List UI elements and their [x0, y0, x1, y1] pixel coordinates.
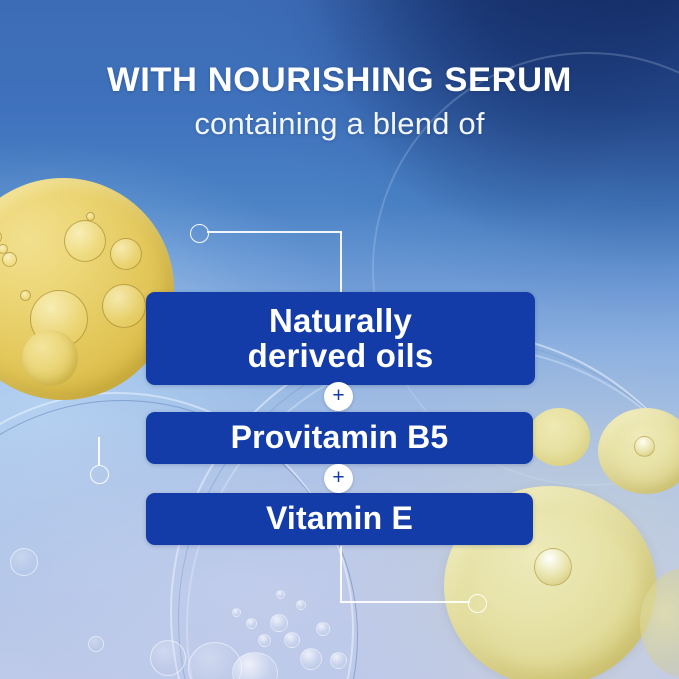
gel-pool-medium-dome	[634, 436, 655, 457]
surface-bubble	[10, 548, 38, 576]
oil-inner-bubble	[2, 252, 17, 267]
foam-bubble	[232, 608, 241, 617]
foam-bubble	[232, 652, 278, 679]
ring-marker-icon-gel-pool	[468, 594, 487, 613]
oil-droplet-small	[22, 330, 78, 386]
connector-line-oils-vertical	[340, 231, 342, 293]
connector-line-b5-vertical	[98, 437, 100, 466]
surface-bubble	[88, 636, 104, 652]
foam-bubble	[276, 590, 285, 599]
foam-bubble	[296, 600, 306, 610]
connector-line-vitamine-horizontal	[340, 601, 470, 603]
foam-bubble	[246, 618, 257, 629]
oil-inner-bubble	[0, 244, 8, 254]
gel-pool-lobe	[528, 408, 590, 466]
plus-icon-separator-1: +	[324, 382, 353, 411]
ingredient-label-oils: Naturally derived oils	[248, 304, 434, 373]
ring-marker-icon-oil-droplet	[190, 224, 209, 243]
ingredient-label-oils-line2: derived oils	[248, 339, 434, 373]
oil-inner-bubble	[20, 290, 31, 301]
oil-inner-bubble	[102, 284, 146, 328]
ingredient-label-vitamin-e: Vitamin E	[266, 502, 413, 535]
page-subtitle: containing a blend of	[0, 107, 679, 141]
ingredient-bar-naturally-derived-oils: Naturally derived oils	[146, 292, 535, 385]
foam-bubble	[258, 634, 271, 647]
surface-bubble	[150, 640, 186, 676]
plus-icon-glyph-1: +	[332, 385, 344, 406]
oil-inner-bubble	[64, 220, 106, 262]
ingredient-bar-provitamin-b5: Provitamin B5	[146, 412, 533, 464]
gel-pool-medium	[598, 408, 679, 494]
product-infographic: WITH NOURISHING SERUM containing a blend…	[0, 0, 679, 679]
oil-inner-bubble	[86, 212, 95, 221]
foam-bubble	[300, 648, 322, 670]
foam-bubble	[316, 622, 330, 636]
ingredient-label-provitamin-b5: Provitamin B5	[231, 421, 449, 454]
plus-icon-glyph-2: +	[332, 467, 344, 488]
foam-bubble	[330, 652, 347, 669]
headline-block: WITH NOURISHING SERUM containing a blend…	[0, 62, 679, 141]
foam-bubble	[270, 614, 288, 632]
ingredient-label-oils-line1: Naturally	[248, 304, 434, 338]
connector-line-oils-horizontal	[207, 231, 342, 233]
gel-pool-large-dome	[534, 548, 572, 586]
ingredient-bar-vitamin-e: Vitamin E	[146, 493, 533, 545]
oil-inner-bubble	[110, 238, 142, 270]
ring-marker-icon-serum-surface	[90, 465, 109, 484]
page-title: WITH NOURISHING SERUM	[0, 62, 679, 99]
connector-line-vitamine-vertical	[340, 546, 342, 603]
foam-bubble	[284, 632, 300, 648]
surface-bubble	[188, 642, 242, 679]
oil-inner-bubble	[30, 290, 88, 348]
oil-inner-bubble	[0, 230, 2, 244]
plus-icon-separator-2: +	[324, 464, 353, 493]
gel-pool-edge	[640, 568, 679, 678]
